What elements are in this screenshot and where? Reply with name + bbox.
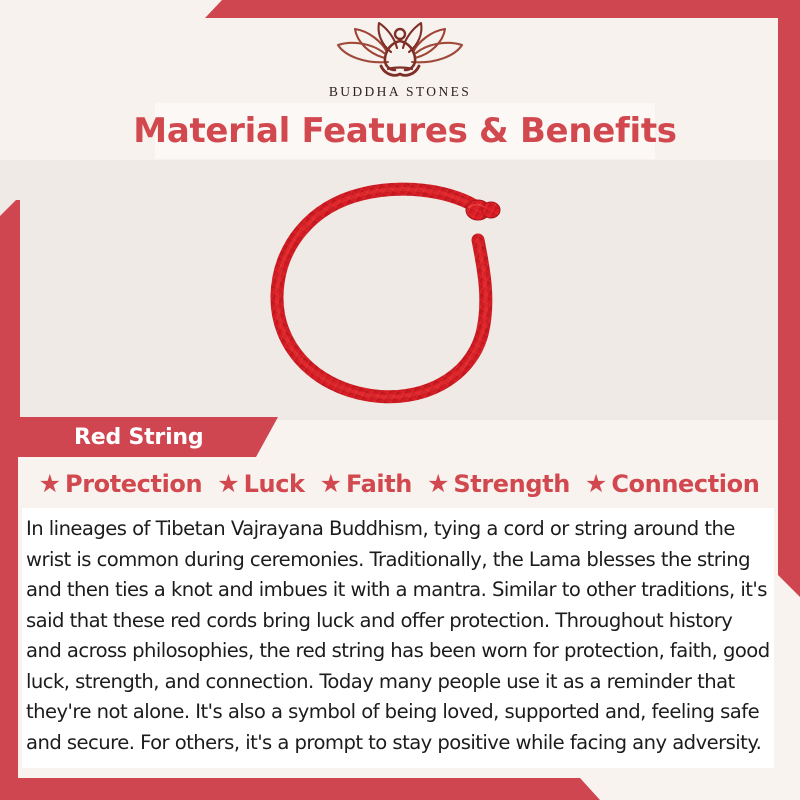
star-icon: ★ [217,472,239,497]
red-braided-string-bracelet-icon [262,174,536,408]
page-title: Material Features & Benefits [133,111,676,151]
benefit-label: Strength [453,470,570,498]
benefit-item-connection: ★ Connection [585,470,759,498]
product-name-label: Red String [74,425,203,450]
lotus-meditation-icon [325,18,475,80]
star-icon: ★ [39,472,61,497]
benefit-label: Protection [65,470,202,498]
material-features-poster: BUDDHA STONES Material Features & Benefi… [0,0,800,800]
page-title-band: Material Features & Benefits [155,103,655,159]
brand-name: BUDDHA STONES [329,84,471,100]
brand-logo: BUDDHA STONES [0,18,800,100]
decorative-bar-right [778,17,800,597]
decorative-bar-left-lower [0,420,18,780]
benefit-item-protection: ★ Protection [39,470,203,498]
benefit-item-faith: ★ Faith [320,470,412,498]
product-image-area [20,162,778,420]
star-icon: ★ [427,472,449,497]
benefits-list: ★ Protection ★ Luck ★ Faith ★ Strength ★… [18,463,780,505]
description-block: In lineages of Tibetan Vajrayana Buddhis… [22,508,774,768]
description-text: In lineages of Tibetan Vajrayana Buddhis… [26,514,770,758]
product-name-ribbon: Red String [18,417,278,457]
benefit-label: Faith [346,470,412,498]
decorative-bar-left-upper [0,200,20,422]
benefit-label: Connection [611,470,759,498]
benefit-item-strength: ★ Strength [427,470,570,498]
star-icon: ★ [320,472,342,497]
star-icon: ★ [585,472,607,497]
benefit-item-luck: ★ Luck [217,470,304,498]
benefit-label: Luck [244,470,305,498]
